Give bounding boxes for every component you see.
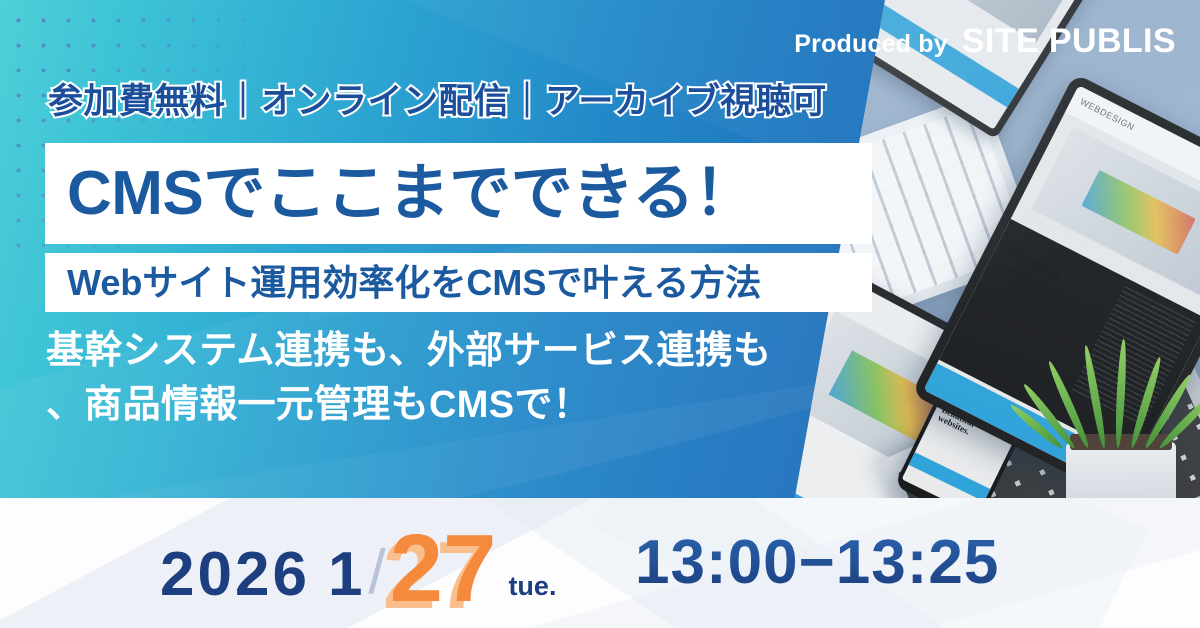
main-title: CMSでここまでできる！: [45, 163, 756, 225]
hero-section: Beautiful websites. WEBDESIGN Beautiful: [0, 0, 1200, 498]
webinar-banner: Beautiful websites. WEBDESIGN Beautiful: [0, 0, 1200, 628]
phone-accent-band: [909, 452, 991, 498]
produced-by: Produced by SITE PUBLIS: [794, 22, 1176, 61]
brand-logo-text: SITE PUBLIS: [962, 22, 1176, 61]
date-year: 2026: [160, 544, 310, 606]
subtitle-box: Webサイト運用効率化をCMSで叶える方法: [45, 253, 872, 312]
plant-leaf: [1114, 339, 1128, 449]
date-day-of-week: tue.: [508, 573, 556, 600]
event-tagline: 参加費無料｜オンライン配信｜アーカイブ視聴可: [48, 84, 827, 119]
event-datetime-bar: 2026 1 / 27 tue. 13:00−13:25: [0, 498, 1200, 628]
date-month: 1: [328, 544, 362, 606]
date-separator: /: [368, 542, 385, 604]
event-date: 2026 1 / 27 tue.: [160, 515, 556, 611]
potted-plant: [1010, 304, 1200, 498]
subtitle: Webサイト運用効率化をCMSで叶える方法: [45, 265, 761, 301]
plant-pot: [1066, 442, 1176, 498]
lead-description: 基幹システム連携も、外部サービス連携も、商品情報一元管理もCMSで！: [46, 325, 876, 433]
main-title-box: CMSでここまでできる！: [45, 143, 872, 244]
produced-by-label: Produced by: [794, 30, 948, 59]
footer-section: 2026 1 / 27 tue. 13:00−13:25: [0, 498, 1200, 628]
event-time: 13:00−13:25: [635, 532, 999, 594]
date-day: 27: [390, 521, 497, 617]
